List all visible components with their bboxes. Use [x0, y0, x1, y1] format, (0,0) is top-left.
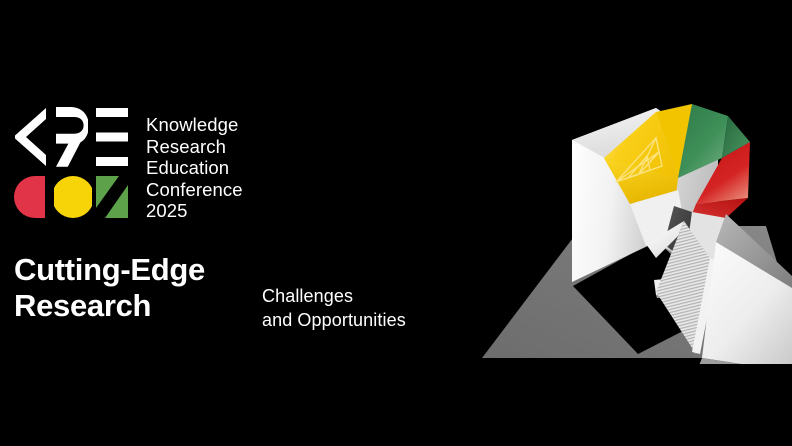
page-title: Cutting-Edge Research [14, 252, 205, 324]
krec-logo-letter-marks [14, 106, 134, 168]
page-subtitle-line-1: Challenges [262, 285, 406, 309]
abstract-3d-cube-render [460, 86, 792, 364]
conference-year: 2025 [146, 200, 326, 222]
krec-logo-color-shapes [14, 176, 134, 218]
conference-name-line-4: Conference [146, 179, 326, 201]
chevron-left-glyph-k-icon [14, 106, 48, 168]
mirrored-r-glyph-icon [54, 106, 88, 168]
green-square-diagonal-shape-icon [93, 176, 131, 218]
page-title-line-2: Research [14, 288, 205, 324]
page-title-line-1: Cutting-Edge [14, 252, 205, 288]
three-bars-glyph-e-icon [93, 106, 131, 168]
presentation-slide: Knowledge Research Education Conference … [0, 0, 792, 446]
red-half-circle-shape-icon [14, 176, 52, 218]
conference-name: Knowledge Research Education Conference … [146, 114, 326, 222]
page-subtitle: Challenges and Opportunities [262, 285, 406, 332]
page-subtitle-line-2: and Opportunities [262, 309, 406, 333]
conference-name-line-1: Knowledge [146, 114, 326, 136]
yellow-circle-shape-icon [54, 176, 92, 218]
krec-logo [14, 106, 134, 218]
conference-name-line-2: Research [146, 136, 326, 158]
conference-name-line-3: Education [146, 157, 326, 179]
